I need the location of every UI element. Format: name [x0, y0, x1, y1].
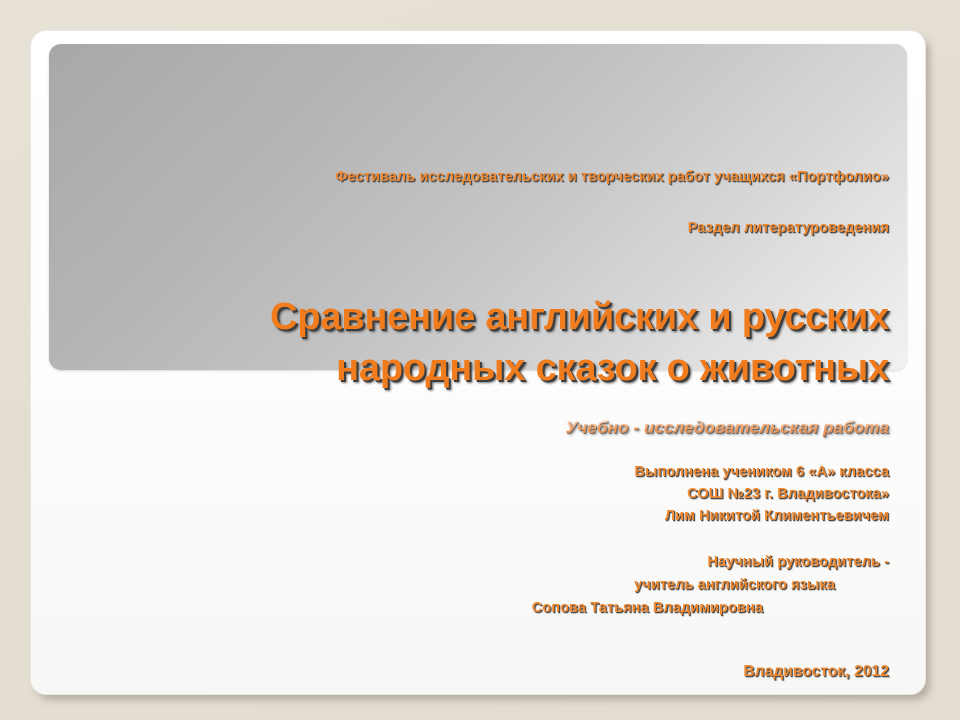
- supervisor-line-3: Сопова Татьяна Владимировна: [532, 600, 763, 616]
- author-line-2: СОШ №23 г. Владивостока»: [687, 486, 889, 502]
- presentation-slide: Фестиваль исследовательских и творческих…: [30, 30, 926, 695]
- work-type-label: Учебно - исследовательская работа: [566, 418, 889, 438]
- author-line-1: Выполнена учеником 6 «А» класса: [634, 464, 889, 480]
- author-line-3: Лим Никитой Климентьевичем: [665, 508, 889, 524]
- slide-content: Фестиваль исследовательских и творческих…: [31, 31, 927, 696]
- place-and-year: Владивосток, 2012: [743, 663, 889, 681]
- supervisor-line-2: учитель английского языка: [634, 577, 835, 593]
- page-title-line-2: народных сказок о животных: [336, 347, 889, 390]
- section-subtitle: Раздел литературоведения: [688, 220, 889, 236]
- supervisor-line-1: Научный руководитель -: [707, 554, 889, 570]
- slide-canvas: Фестиваль исследовательских и творческих…: [0, 0, 960, 720]
- festival-subtitle: Фестиваль исследовательских и творческих…: [335, 169, 889, 185]
- page-title-line-1: Сравнение английских и русских: [270, 296, 889, 339]
